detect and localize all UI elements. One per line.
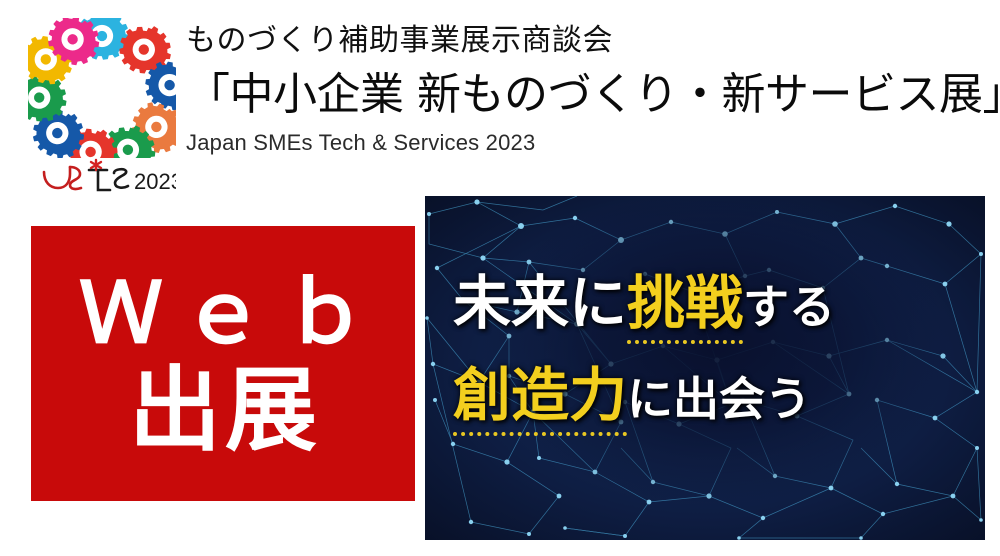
banner-line1-part2: する — [743, 280, 835, 334]
event-key-visual-banner: 未来に挑戦する 創造力に出会う — [425, 196, 985, 540]
banner-headline-line-2: 創造力に出会う — [453, 364, 811, 430]
page-title: 「中小企業 新ものづくり・新サービス展」 — [186, 68, 986, 122]
banner-line1-part1: 未来に — [453, 269, 627, 337]
event-header: 2023 ものづくり補助事業展示商談会 「中小企業 新ものづくり・新サービス展」… — [0, 0, 1000, 200]
web-exhibit-label-exhibit: 出展 — [125, 361, 321, 461]
jsts-wordmark: 2023 — [36, 158, 176, 198]
web-exhibit-badge: Ｗｅｂ 出展 — [31, 226, 415, 501]
banner-line1-highlight: 挑戦 — [627, 269, 743, 344]
banner-headline-line-1: 未来に挑戦する — [453, 272, 835, 338]
banner-line2-part2: に出会う — [627, 372, 811, 426]
wordmark-year: 2023 — [134, 169, 176, 194]
event-subtitle-english: Japan SMEs Tech & Services 2023 — [186, 128, 986, 158]
gear-ring-icon — [28, 18, 176, 158]
banner-line2-highlight: 創造力 — [453, 361, 627, 436]
banner-copy: 未来に挑戦する 創造力に出会う — [425, 196, 985, 540]
event-kicker: ものづくり補助事業展示商談会 — [186, 22, 986, 60]
web-exhibit-label-web: Ｗｅｂ — [61, 267, 385, 359]
jsts-gear-ring-logo: 2023 — [28, 10, 178, 195]
header-text-block: ものづくり補助事業展示商談会 「中小企業 新ものづくり・新サービス展」 Japa… — [186, 22, 986, 158]
